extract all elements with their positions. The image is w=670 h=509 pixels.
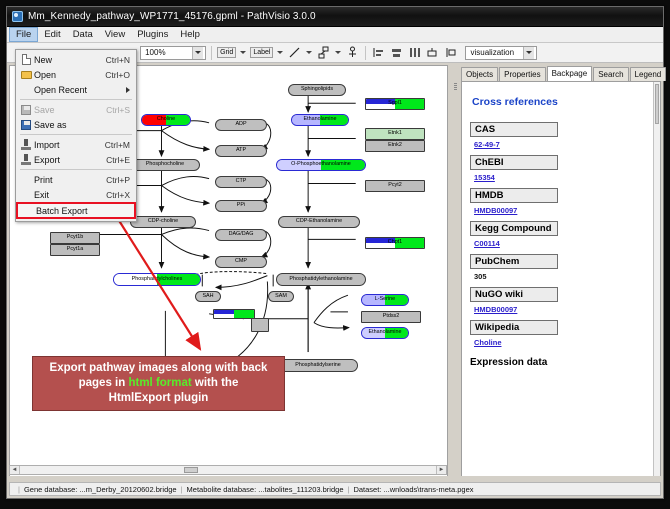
- menu-item-accel: Ctrl+X: [106, 190, 136, 200]
- menu-item-accel: Ctrl+P: [106, 175, 136, 185]
- node-label: Phosphatidylethanolamine: [289, 277, 352, 282]
- save-icon: [18, 105, 34, 115]
- menu-separator: [20, 169, 132, 170]
- open-folder-icon: [18, 71, 34, 79]
- canvas-hscrollbar[interactable]: ◄ ►: [9, 465, 447, 475]
- xref-chebi: ChEBI 15354: [470, 155, 652, 182]
- xref-source-label: CAS: [470, 122, 558, 137]
- metabolite-node-ctp[interactable]: CTP: [215, 176, 267, 188]
- callout-line3: HtmlExport plugin: [109, 392, 209, 404]
- gene-node-etnk1[interactable]: Etnk1: [365, 128, 425, 140]
- panel-resize-handle[interactable]: [453, 83, 458, 478]
- node-label: CDP-choline: [148, 219, 178, 224]
- chevron-down-icon[interactable]: [305, 46, 313, 60]
- dataset-label: Dataset:: [353, 485, 381, 494]
- metabolite-node-ppi[interactable]: PPi: [215, 200, 267, 212]
- node-label: Phosphatidylcholines: [132, 277, 183, 282]
- metabolite-node-cmp[interactable]: CMP: [215, 256, 267, 268]
- tab-search[interactable]: Search: [593, 67, 628, 81]
- application-window: Mm_Kennedy_pathway_WP1771_45176.gpml - P…: [6, 6, 664, 499]
- xref-value[interactable]: C00114: [474, 239, 652, 248]
- xref-source-label: ChEBI: [470, 155, 558, 170]
- metabolite-database-label: Metabolite database:: [187, 485, 257, 494]
- tab-objects[interactable]: Objects: [461, 67, 498, 81]
- export-icon: [18, 154, 34, 165]
- chevron-down-icon[interactable]: [192, 47, 203, 59]
- gene-database-label: Gene database:: [24, 485, 77, 494]
- distribute-icon[interactable]: [407, 45, 422, 60]
- callout-line2-highlight: html format: [128, 377, 191, 389]
- tab-properties[interactable]: Properties: [499, 67, 545, 81]
- menu-item-accel: Ctrl+M: [105, 140, 136, 150]
- menu-plugins[interactable]: Plugins: [131, 27, 174, 42]
- expression-data-heading: Expression data: [470, 357, 652, 368]
- metabolite-node-phosphocholine[interactable]: Phosphocholine: [130, 159, 200, 171]
- gene-database-value: ...m_Derby_20120602.bridge: [79, 485, 176, 494]
- callout-line2-b: with the: [192, 377, 239, 389]
- menu-item-label: Print: [34, 175, 106, 185]
- node-label: Sphingolipids: [301, 87, 333, 92]
- gene-node-chpt1[interactable]: Chpt1: [365, 237, 425, 249]
- chevron-down-icon[interactable]: [239, 46, 247, 60]
- interaction-tool-icon[interactable]: [316, 45, 331, 60]
- node-label: DAG/DAG: [229, 232, 254, 237]
- node-label: L-Serine: [375, 297, 395, 302]
- xref-value[interactable]: HMDB00097: [474, 206, 652, 215]
- metabolite-node-cdp-eth[interactable]: CDP-Ethanolamine: [278, 216, 360, 228]
- xref-link[interactable]: 15354: [474, 173, 495, 182]
- xref-source-label: HMDB: [470, 188, 558, 203]
- visualization-combobox[interactable]: visualization: [465, 46, 537, 60]
- xref-wikipedia: Wikipedia Choline: [470, 320, 652, 347]
- xref-cas: CAS 62-49-7: [470, 122, 652, 149]
- menu-item-accel: Ctrl+O: [105, 70, 136, 80]
- node-label: Sgpl1: [388, 101, 402, 106]
- window-title: Mm_Kennedy_pathway_WP1771_45176.gpml - P…: [28, 11, 316, 22]
- menu-item-import[interactable]: Import Ctrl+M: [16, 137, 136, 152]
- menu-item-accel: Ctrl+E: [106, 155, 136, 165]
- metabolite-node-sam[interactable]: SAM: [268, 291, 294, 302]
- xref-link[interactable]: C00114: [474, 239, 500, 248]
- toolbar-separator: [365, 46, 366, 60]
- metabolite-node-ptdserine[interactable]: Phosphatidylserine: [278, 359, 358, 372]
- menu-item-open-recent[interactable]: Open Recent: [16, 82, 136, 97]
- xref-link[interactable]: 62-49-7: [474, 140, 500, 149]
- node-label: ATP: [236, 148, 246, 153]
- node-label: Phosphatidylserine: [295, 363, 341, 368]
- node-label: Ptdss2: [383, 314, 399, 319]
- menu-item-batch-export[interactable]: Batch Export: [16, 202, 136, 219]
- cross-references-heading: Cross references: [472, 96, 652, 108]
- import-icon: [18, 139, 34, 150]
- metabolite-node-cdp-choline[interactable]: CDP-choline: [130, 216, 196, 228]
- xref-pubchem: PubChem 305: [470, 254, 652, 281]
- xref-link[interactable]: HMDB00097: [474, 206, 517, 215]
- zoom-value: 100%: [145, 48, 192, 57]
- xref-kegg-compound: Kegg Compound C00114: [470, 221, 652, 248]
- visualization-value: visualization: [470, 48, 523, 57]
- callout-line2-a: pages in: [79, 377, 129, 389]
- anchor-tool-icon[interactable]: [345, 45, 360, 60]
- menu-separator: [20, 134, 132, 135]
- group-icon[interactable]: [425, 45, 440, 60]
- menu-item-label: Save as: [34, 120, 136, 130]
- node-label: PPi: [237, 203, 245, 208]
- metabolite-node-atp[interactable]: ATP: [215, 145, 267, 157]
- xref-value[interactable]: HMDB00097: [474, 305, 652, 314]
- status-bar: | Gene database: ...m_Derby_20120602.bri…: [9, 482, 661, 496]
- node-label: Chpt1: [388, 240, 402, 245]
- node-label: SAM: [275, 294, 287, 299]
- menu-item-save-as[interactable]: Save as: [16, 117, 136, 132]
- gene-node-pemt[interactable]: [213, 309, 255, 319]
- metabolite-node-ethanolamine1[interactable]: Ethanolamine: [291, 114, 349, 126]
- label-tool-icon[interactable]: Label: [250, 47, 273, 58]
- backpage-scrollbar[interactable]: [653, 82, 660, 497]
- menu-help[interactable]: Help: [174, 27, 206, 42]
- node-label: SAH: [202, 294, 213, 299]
- scroll-left-arrow[interactable]: ◄: [10, 466, 20, 474]
- menu-item-label: Save: [34, 105, 106, 115]
- node-label: CMP: [235, 259, 247, 264]
- save-as-icon: [18, 120, 34, 130]
- scroll-right-arrow[interactable]: ►: [436, 466, 446, 474]
- gene-node-pcyt2[interactable]: Pcyt2: [365, 180, 425, 192]
- side-panel: Objects Properties Backpage Search Legen…: [451, 65, 661, 498]
- menu-item-new[interactable]: New Ctrl+N: [16, 52, 136, 67]
- title-bar: Mm_Kennedy_pathway_WP1771_45176.gpml - P…: [7, 7, 663, 27]
- gene-node-pcyt1a[interactable]: Pcyt1a: [50, 244, 100, 256]
- chevron-down-icon[interactable]: [334, 46, 342, 60]
- gene-node-unnamed-grey[interactable]: [251, 318, 269, 332]
- menu-view[interactable]: View: [99, 27, 131, 42]
- node-label: Pcyt1a: [67, 247, 83, 252]
- menu-data[interactable]: Data: [67, 27, 99, 42]
- xref-value: 305: [474, 272, 652, 281]
- node-label: CDP-Ethanolamine: [296, 219, 342, 224]
- menu-item-label: Open: [34, 70, 105, 80]
- xref-value[interactable]: Choline: [474, 338, 652, 347]
- app-icon: [12, 11, 23, 22]
- menu-item-label: Batch Export: [36, 206, 134, 216]
- xref-source-label: NuGO wiki: [470, 287, 558, 302]
- menu-item-export[interactable]: Export Ctrl+E: [16, 152, 136, 167]
- menu-separator: [20, 99, 132, 100]
- xref-hmdb: HMDB HMDB00097: [470, 188, 652, 215]
- align-left-icon[interactable]: [371, 45, 386, 60]
- node-label: Etnk2: [388, 143, 402, 148]
- menu-item-label: Exit: [34, 190, 106, 200]
- gene-node-ptdss2[interactable]: Ptdss2: [361, 311, 421, 323]
- node-label: Pcyt2: [388, 183, 401, 188]
- menu-file[interactable]: File: [9, 27, 38, 42]
- chevron-down-icon[interactable]: [276, 46, 284, 60]
- menu-item-print[interactable]: Print Ctrl+P: [16, 172, 136, 187]
- node-label: O-Phosphoethanolamine: [291, 162, 351, 167]
- metabolite-database-value: ...tabolites_111203.bridge: [258, 485, 343, 494]
- node-label: Choline: [157, 117, 175, 122]
- metabolite-node-ethanolamine2[interactable]: Ethanolamine: [361, 327, 409, 339]
- menu-item-open[interactable]: Open Ctrl+O: [16, 67, 136, 82]
- scroll-thumb[interactable]: [184, 467, 198, 473]
- menu-item-label: Import: [34, 140, 105, 150]
- metabolite-node-choline-top[interactable]: Choline: [141, 114, 191, 126]
- node-label: CTP: [236, 179, 247, 184]
- file-dropdown-menu[interactable]: New Ctrl+N Open Ctrl+O Open Recent Save …: [15, 49, 137, 222]
- backpage-content: Cross references CAS 62-49-7 ChEBI 15354…: [461, 81, 661, 498]
- status-area: ◄ ► | Gene database: ...m_Derby_20120602…: [7, 476, 663, 498]
- xref-source-label: Kegg Compound: [470, 221, 558, 236]
- order-icon[interactable]: [443, 45, 458, 60]
- gene-node-pcyt1b[interactable]: Pcyt1b: [50, 232, 100, 244]
- zoom-combobox[interactable]: 100%: [140, 46, 206, 60]
- menu-item-exit[interactable]: Exit Ctrl+X: [16, 187, 136, 202]
- xref-value[interactable]: 62-49-7: [474, 140, 652, 149]
- xref-link[interactable]: Choline: [474, 338, 502, 347]
- chevron-down-icon[interactable]: [523, 47, 534, 59]
- metabolite-node-l-serine[interactable]: L-Serine: [361, 294, 409, 306]
- menu-item-accel: Ctrl+N: [106, 55, 136, 65]
- xref-nugo-wiki: NuGO wiki HMDB00097: [470, 287, 652, 314]
- tab-backpage[interactable]: Backpage: [547, 66, 593, 81]
- xref-value[interactable]: 15354: [474, 173, 652, 182]
- node-label: Ethanolamine: [369, 330, 402, 335]
- side-tabs: Objects Properties Backpage Search Legen…: [451, 65, 661, 81]
- node-label: Phosphocholine: [146, 162, 184, 167]
- align-center-icon[interactable]: [389, 45, 404, 60]
- metabolite-node-sphingolipids[interactable]: Sphingolipids: [288, 84, 346, 96]
- screenshot-root: Mm_Kennedy_pathway_WP1771_45176.gpml - P…: [0, 0, 670, 509]
- menu-item-save: Save Ctrl+S: [16, 102, 136, 117]
- gene-node-sgpl1[interactable]: Sgpl1: [365, 98, 425, 110]
- menu-item-label: Open Recent: [34, 85, 136, 95]
- node-label: Ethanolamine: [304, 117, 337, 122]
- node-label: Pcyt1b: [67, 235, 83, 240]
- xref-source-label: PubChem: [470, 254, 558, 269]
- metabolite-node-adp[interactable]: ADP: [215, 119, 267, 131]
- menu-item-label: New: [34, 55, 106, 65]
- metabolite-node-ophosphoeth[interactable]: O-Phosphoethanolamine: [276, 159, 366, 171]
- menu-bar: File Edit Data View Plugins Help: [7, 27, 663, 43]
- metabolite-node-ptdcholines[interactable]: Phosphatidylcholines: [113, 273, 201, 286]
- callout-line1: Export pathway images along with back: [50, 362, 268, 374]
- menu-edit[interactable]: Edit: [38, 27, 66, 42]
- annotation-callout: Export pathway images along with back pa…: [32, 356, 285, 411]
- line-tool-icon[interactable]: [287, 45, 302, 60]
- xref-source-label: Wikipedia: [470, 320, 558, 335]
- gene-node-etnk2[interactable]: Etnk2: [365, 140, 425, 152]
- node-label: Etnk1: [388, 131, 402, 136]
- metabolite-node-dag[interactable]: DAG/DAG: [215, 229, 267, 241]
- new-document-icon: [18, 54, 34, 65]
- dataset-value: ...wnloads\trans-meta.pgex: [383, 485, 473, 494]
- tab-legend[interactable]: Legend: [630, 67, 667, 81]
- metabolite-node-ptdeth[interactable]: Phosphatidylethanolamine: [276, 273, 366, 286]
- grid-toggle-icon[interactable]: Grid: [217, 47, 236, 58]
- xref-link[interactable]: HMDB00097: [474, 305, 517, 314]
- menu-item-label: Export: [34, 155, 106, 165]
- menu-item-accel: Ctrl+S: [106, 105, 136, 115]
- metabolite-node-sah[interactable]: SAH: [195, 291, 221, 302]
- toolbar-separator: [211, 46, 212, 60]
- node-label: ADP: [235, 122, 246, 127]
